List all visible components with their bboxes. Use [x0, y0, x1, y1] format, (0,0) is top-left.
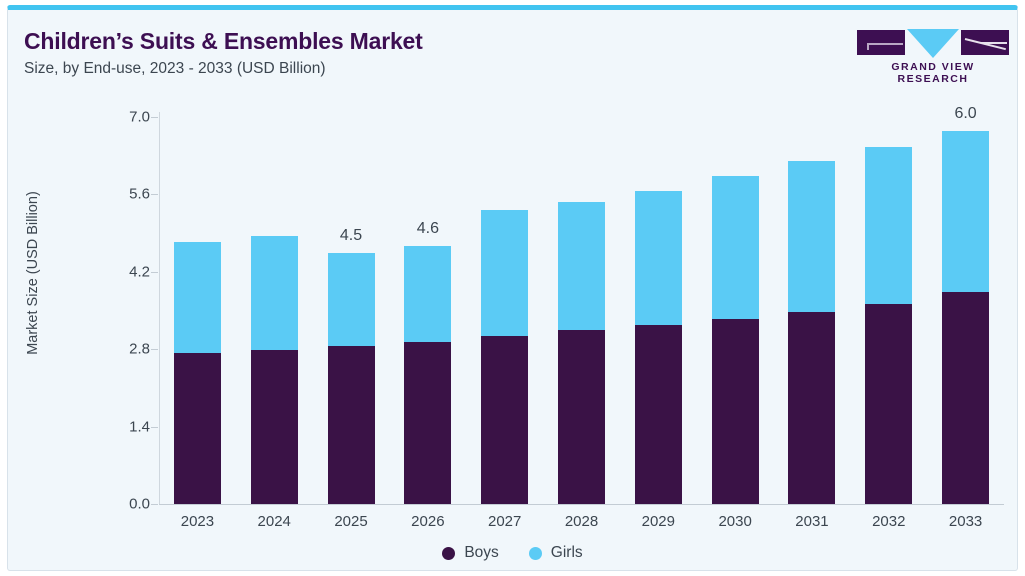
bar-segment-boys[interactable] [558, 330, 605, 504]
y-axis-tick [151, 427, 158, 428]
bar-segment-boys[interactable] [865, 304, 912, 504]
bars-container: 202320244.520254.62026202720282029203020… [159, 10, 1004, 576]
bar-segment-girls[interactable] [942, 131, 989, 292]
bar-segment-boys[interactable] [712, 319, 759, 504]
bar-segment-boys[interactable] [788, 312, 835, 504]
bar-value-label: 6.0 [916, 105, 1016, 123]
y-axis-tick [151, 504, 158, 505]
legend-label: Boys [464, 544, 498, 562]
bar-value-label: 4.6 [378, 220, 478, 238]
bar-stack[interactable] [635, 191, 682, 504]
bar-segment-boys[interactable] [404, 342, 451, 504]
bar-stack[interactable] [712, 176, 759, 504]
legend-label: Girls [551, 544, 583, 562]
bar-segment-girls[interactable] [865, 147, 912, 304]
x-axis-tick-label: 2033 [916, 513, 1016, 530]
bar-stack[interactable] [174, 242, 221, 504]
y-axis-tick [151, 117, 158, 118]
bar-segment-girls[interactable] [174, 242, 221, 353]
legend-item[interactable]: Boys [442, 544, 498, 562]
y-axis-tick [151, 349, 158, 350]
bar-stack[interactable] [251, 236, 298, 504]
legend-color-swatch [529, 547, 542, 560]
bar-segment-boys[interactable] [328, 346, 375, 504]
bar-stack[interactable] [481, 210, 528, 504]
bar-segment-boys[interactable] [635, 325, 682, 504]
y-axis-tick-label: 1.4 [129, 418, 150, 435]
bar-stack[interactable] [865, 147, 912, 504]
y-axis-title: Market Size (USD Billion) [25, 143, 41, 403]
chart-card: Children’s Suits & Ensembles Market Size… [7, 5, 1018, 571]
bar-segment-girls[interactable] [251, 236, 298, 350]
bar-stack[interactable] [328, 253, 375, 504]
bar-stack[interactable] [942, 131, 989, 504]
y-axis-tick [151, 272, 158, 273]
bar-segment-boys[interactable] [174, 353, 221, 504]
bar-chart: Market Size (USD Billion) 0.01.42.84.25.… [8, 10, 1019, 576]
y-axis-tick-label: 5.6 [129, 186, 150, 203]
y-axis-tick-label: 2.8 [129, 341, 150, 358]
y-axis-tick-label: 7.0 [129, 109, 150, 126]
bar-segment-boys[interactable] [481, 336, 528, 504]
bar-segment-girls[interactable] [712, 176, 759, 319]
bar-stack[interactable] [558, 202, 605, 504]
bar-segment-girls[interactable] [328, 253, 375, 346]
chart-legend: BoysGirls [8, 544, 1017, 562]
bar-segment-boys[interactable] [251, 350, 298, 504]
y-axis-tick-label: 0.0 [129, 496, 150, 513]
bar-stack[interactable] [788, 161, 835, 504]
y-axis-labels: 0.01.42.84.25.67.0 [104, 10, 150, 576]
bar-segment-girls[interactable] [404, 246, 451, 342]
bar-segment-boys[interactable] [942, 292, 989, 504]
legend-color-swatch [442, 547, 455, 560]
bar-segment-girls[interactable] [788, 161, 835, 312]
bar-segment-girls[interactable] [635, 191, 682, 325]
legend-item[interactable]: Girls [529, 544, 583, 562]
bar-segment-girls[interactable] [558, 202, 605, 330]
y-axis-tick-label: 4.2 [129, 263, 150, 280]
y-axis-tick [151, 194, 158, 195]
bar-stack[interactable] [404, 246, 451, 504]
bar-segment-girls[interactable] [481, 210, 528, 337]
